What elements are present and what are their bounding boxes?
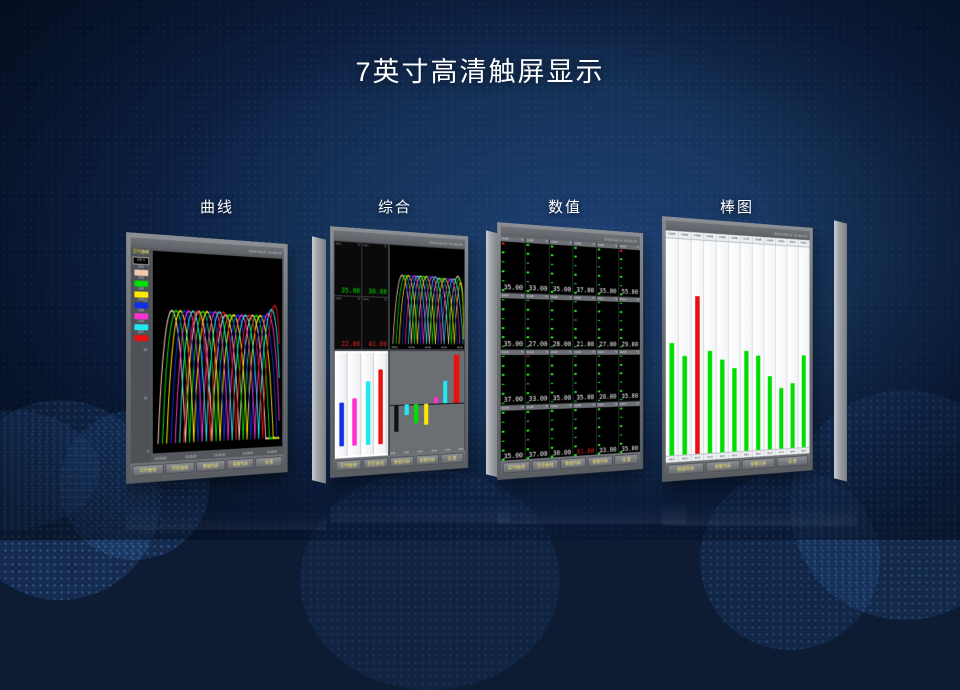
x-tick: 10:44:00 bbox=[214, 453, 225, 457]
channel-tag: CH5 bbox=[138, 308, 144, 313]
channel-tag: CH09 bbox=[551, 295, 558, 299]
channel-tag: CH10 bbox=[575, 295, 582, 299]
numeric-value: 31.00 bbox=[576, 447, 594, 456]
numeric-value: 35.00 bbox=[553, 394, 571, 402]
channel-tag: CH2 bbox=[363, 243, 368, 247]
channel-tag: CH17 bbox=[598, 350, 604, 354]
alarm-leds bbox=[527, 411, 530, 459]
device-side-panel bbox=[834, 220, 847, 481]
device-screen[interactable]: 2014-08-21 10:46:43 CH01 CH02 CH03 CH04 … bbox=[666, 220, 810, 477]
combined-trend-chart[interactable]: 39:00 41:00 44:00 46:00 48:00 bbox=[389, 244, 465, 350]
channel-tag: CH07 bbox=[741, 236, 753, 243]
bar-column[interactable] bbox=[679, 239, 692, 455]
gauge-bar[interactable] bbox=[349, 353, 361, 456]
bar-column[interactable] bbox=[717, 242, 729, 453]
button-realtime-curve[interactable]: 实时曲线 bbox=[133, 464, 164, 477]
gauge-bar[interactable] bbox=[375, 353, 387, 454]
table-row: CH07℃ 35.00 CH08℃ 27.00 CH09℃ 28.00 bbox=[501, 293, 640, 349]
channel-header-row: CH01 CH02 CH03 CH04 CH05 CH06 CH07 CH08 … bbox=[666, 230, 810, 247]
channel-tag: CH05 bbox=[598, 243, 604, 247]
unit-label: ℃ bbox=[384, 297, 387, 301]
y-tick: 75 bbox=[144, 299, 147, 303]
bar-column[interactable] bbox=[741, 243, 753, 451]
y-tick: 0 bbox=[147, 450, 149, 454]
button-realtime-curve[interactable]: 实时曲线 bbox=[336, 459, 362, 472]
table-row: CH19℃ 35.00 CH20℃ 37.00 CH21℃ 30.00 bbox=[501, 402, 640, 462]
x-tick: 19:00 bbox=[458, 448, 463, 451]
x-tick: 39:00 bbox=[391, 345, 397, 349]
channel-tag: CH2 bbox=[138, 275, 144, 280]
device-bezel: 2014-08-21 10:46:43 CH1 ℃ 35.00 CH2 ℃ bbox=[330, 226, 468, 478]
channel-tag: CH21 bbox=[551, 404, 558, 408]
digital-cell[interactable]: CH3 ℃ 22.00 bbox=[335, 296, 362, 349]
alarm-leds bbox=[527, 244, 530, 292]
numeric-cell[interactable]: CH08℃ 27.00 bbox=[526, 294, 549, 349]
function-button-bar[interactable]: 数据列表 报警列表 报警记录 设 置 bbox=[666, 453, 810, 478]
channel-value: 30.0 bbox=[753, 451, 765, 458]
numeric-value: 28.00 bbox=[553, 340, 571, 348]
unit-label: ℃ bbox=[615, 244, 618, 249]
numeric-value: 33.00 bbox=[529, 284, 548, 293]
numeric-cell[interactable]: CH22℃ 31.00 bbox=[574, 403, 596, 457]
unit-label: ℃ bbox=[636, 350, 639, 355]
channel-tag: CH1 bbox=[138, 264, 144, 269]
caption-bargraph: 棒图 bbox=[720, 196, 754, 217]
channel-tag: CH20 bbox=[527, 405, 534, 409]
digital-value: 22.00 bbox=[335, 340, 361, 348]
button-settings[interactable]: 设 置 bbox=[776, 455, 808, 467]
button-data-list[interactable]: 数据列表 bbox=[196, 460, 225, 472]
unit-label: ℃ bbox=[521, 405, 524, 410]
status-bar: 2014-08-21 10:46:43 bbox=[666, 220, 810, 240]
numeric-value: 33.00 bbox=[529, 395, 548, 403]
gauge-bar[interactable] bbox=[362, 353, 374, 455]
bar-column[interactable] bbox=[776, 245, 787, 448]
button-settings[interactable]: 设 置 bbox=[441, 452, 464, 464]
bar-chart-panel[interactable]: 9:00 11:00 13:00 15:00 17:00 19:00 bbox=[389, 350, 465, 456]
device-side-panel bbox=[312, 236, 326, 483]
x-tick: 44:00 bbox=[425, 345, 431, 349]
numeric-value: 35.00 bbox=[504, 340, 523, 348]
channel-tag: CH7 bbox=[138, 330, 144, 335]
numeric-cell[interactable]: CH07℃ 35.00 bbox=[501, 293, 525, 349]
bar-column[interactable] bbox=[799, 247, 810, 448]
channel-tag: CH11 bbox=[598, 296, 604, 300]
channel-tag: CH04 bbox=[575, 241, 582, 245]
channel-value: 31.0 bbox=[764, 450, 776, 457]
numeric-cell[interactable]: CH06℃ 55.00 bbox=[619, 244, 640, 296]
device-reflection bbox=[662, 482, 857, 526]
button-history-curve[interactable]: 历史曲线 bbox=[532, 459, 559, 472]
numeric-cell[interactable]: CH12℃ 29.00 bbox=[619, 297, 640, 349]
channel-tag: CH23 bbox=[598, 403, 604, 407]
unit-label: ℃ bbox=[545, 239, 548, 244]
numeric-cell[interactable]: CH24℃ 35.00 bbox=[619, 402, 640, 454]
unit-label: ℃ bbox=[636, 245, 639, 250]
function-button-bar[interactable]: 实时曲线 历史曲线 数据列表 报警列表 设 置 bbox=[131, 454, 284, 478]
channel-tag: CH24 bbox=[620, 402, 626, 406]
channel-tag: CH13 bbox=[502, 350, 509, 354]
numeric-cell[interactable]: CH01℃ 35.00 bbox=[501, 236, 525, 292]
timestamp: 2015-02-21 10:34:21 bbox=[604, 236, 637, 243]
alarm-leds bbox=[598, 409, 600, 455]
unit-label: ℃ bbox=[592, 403, 595, 408]
unit-label: ℃ bbox=[357, 243, 360, 247]
alarm-leds bbox=[620, 355, 622, 400]
channel-tag: CH05 bbox=[717, 234, 729, 242]
channel-color-chip-6[interactable] bbox=[134, 324, 148, 330]
device-screen[interactable]: 2015-02-21 10:34:21 CH01℃ 35.00 CH02℃ 33… bbox=[501, 226, 640, 475]
button-realtime-curve[interactable]: 实时曲线 bbox=[503, 461, 531, 474]
bar bbox=[434, 397, 438, 404]
timestamp: 2014-08-21 10:46:43 bbox=[774, 231, 807, 238]
channel-tag: CH08 bbox=[753, 236, 765, 243]
trend-chart[interactable]: 100 75 50 25 0 bbox=[153, 251, 282, 454]
channel-sidebar[interactable]: 实时曲线 CH 1 CH1 CH2 CH3 CH4 CH5 CH6 CH7 bbox=[131, 247, 151, 464]
digital-value: 41.00 bbox=[362, 340, 387, 348]
device-bezel: 2014-08-21 10:46:43 CH01 CH02 CH03 CH04 … bbox=[662, 216, 813, 482]
numeric-cell[interactable]: CH11℃ 27.00 bbox=[597, 296, 619, 349]
alarm-leds bbox=[502, 242, 505, 291]
device-reflection bbox=[126, 484, 326, 530]
numeric-value: 35.00 bbox=[504, 451, 523, 460]
alarm-leds bbox=[575, 355, 578, 402]
x-tick: 48:00 bbox=[457, 346, 463, 350]
device-bargraph[interactable]: 2014-08-21 10:46:43 CH01 CH02 CH03 CH04 … bbox=[662, 216, 857, 482]
bar bbox=[424, 404, 428, 425]
channel-tag: CH12 bbox=[799, 240, 810, 247]
device-reflection bbox=[497, 480, 687, 524]
channel-tag: CH15 bbox=[551, 350, 558, 354]
bar bbox=[394, 405, 398, 432]
panel-title: 实时曲线 bbox=[133, 248, 150, 255]
unit-label: ℃ bbox=[357, 296, 360, 300]
channel-tag: CH1 bbox=[336, 241, 342, 245]
device-combined[interactable]: 2014-08-21 10:46:43 CH1 ℃ 35.00 CH2 ℃ bbox=[330, 226, 510, 478]
x-tick: 13:00 bbox=[417, 450, 422, 453]
bar bbox=[453, 355, 459, 403]
channel-color-chip-5[interactable] bbox=[134, 313, 148, 319]
numeric-value: 21.00 bbox=[576, 340, 594, 348]
numeric-cell[interactable]: CH04℃ 37.00 bbox=[574, 241, 596, 295]
numeric-value: 27.00 bbox=[529, 340, 548, 348]
numeric-cell[interactable]: CH09℃ 28.00 bbox=[550, 295, 573, 349]
alarm-leds bbox=[527, 300, 530, 348]
numeric-cell[interactable]: CH18℃ 35.00 bbox=[619, 350, 640, 402]
numeric-cell[interactable]: CH14℃ 33.00 bbox=[526, 350, 549, 405]
bar bbox=[404, 405, 408, 415]
button-data-list[interactable]: 数据列表 bbox=[668, 462, 704, 475]
channel-tag: CH02 bbox=[527, 238, 534, 242]
x-tick: 46:00 bbox=[441, 345, 447, 349]
unit-label: ℃ bbox=[569, 404, 572, 409]
digital-values-panel[interactable]: CH1 ℃ 35.00 CH2 ℃ 30.00 CH3 ℃ 22.00 bbox=[334, 240, 389, 350]
numeric-cell[interactable]: CH20℃ 37.00 bbox=[526, 405, 549, 461]
device-screen[interactable]: 2014-08-21 10:46:43 CH1 ℃ 35.00 CH2 ℃ bbox=[334, 230, 465, 473]
channel-tag: CH22 bbox=[575, 404, 582, 408]
x-tick: 41:00 bbox=[408, 345, 414, 349]
numeric-cell[interactable]: CH13℃ 37.00 bbox=[501, 350, 525, 406]
channel-tag: CH01 bbox=[502, 236, 509, 240]
numeric-cell[interactable]: CH10℃ 21.00 bbox=[574, 295, 596, 348]
channel-tag: CH07 bbox=[502, 293, 509, 297]
channel-value: 34.0 bbox=[717, 453, 729, 461]
numeric-value: 29.00 bbox=[621, 340, 638, 347]
digital-cell[interactable]: CH4 ℃ 41.00 bbox=[362, 297, 388, 350]
status-bar: 2014-08-21 10:46:43 bbox=[334, 230, 465, 249]
channel-value: 31.2 bbox=[741, 451, 753, 458]
channel-tag: CH4 bbox=[138, 297, 144, 302]
numeric-cell[interactable]: CH02℃ 33.00 bbox=[526, 238, 549, 294]
channel-tag: CH12 bbox=[620, 297, 626, 301]
unit-label: ℃ bbox=[636, 402, 639, 407]
channel-tag: CH18 bbox=[620, 350, 626, 354]
device-curve[interactable]: 2014-08-21 10:46:43 实时曲线 CH 1 CH1 CH2 CH… bbox=[126, 232, 326, 484]
alarm-leds bbox=[502, 355, 505, 404]
channel-tag: CH09 bbox=[764, 237, 776, 244]
numeric-value: 27.00 bbox=[599, 340, 616, 348]
digital-cell[interactable]: CH1 ℃ 35.00 bbox=[335, 241, 362, 295]
button-alarm-list[interactable]: 报警列表 bbox=[705, 460, 740, 473]
channel-tag: CH02 bbox=[679, 231, 692, 239]
device-bezel: 2014-08-21 10:46:43 实时曲线 CH 1 CH1 CH2 CH… bbox=[126, 232, 288, 484]
numeric-cell[interactable]: CH15℃ 35.00 bbox=[550, 350, 573, 404]
numeric-cell[interactable]: CH19℃ 35.00 bbox=[501, 405, 525, 461]
status-bar: 2014-08-21 10:46:43 bbox=[131, 237, 284, 257]
x-tick: 10:45:00 bbox=[242, 451, 253, 455]
numeric-value: 26.00 bbox=[599, 393, 616, 401]
unit-label: ℃ bbox=[636, 298, 639, 303]
numeric-value: 33.00 bbox=[599, 446, 616, 455]
function-button-bar[interactable]: 实时曲线 历史曲线 数据列表 报警列表 设 置 bbox=[334, 451, 465, 474]
numeric-value: 35.00 bbox=[621, 445, 638, 453]
unit-label: ℃ bbox=[384, 245, 387, 249]
channel-tag: CH14 bbox=[527, 350, 534, 354]
channel-tag: CH03 bbox=[551, 240, 558, 244]
alarm-leds bbox=[575, 247, 578, 294]
unit-label: ℃ bbox=[569, 241, 572, 246]
numeric-value: 35.00 bbox=[553, 285, 571, 293]
gauge-panel[interactable] bbox=[334, 350, 389, 460]
channel-value: 34.0 bbox=[692, 454, 705, 462]
x-tick: 10:46:00 bbox=[267, 450, 277, 454]
caption-combined: 综合 bbox=[378, 196, 412, 217]
unit-label: ℃ bbox=[592, 296, 595, 301]
unit-label: ℃ bbox=[545, 405, 548, 410]
y-tick: 25 bbox=[144, 397, 147, 401]
bar-column[interactable] bbox=[787, 246, 798, 448]
channel-tag: CH10 bbox=[776, 238, 787, 245]
channel-tag: CH06 bbox=[620, 244, 626, 248]
trend-curve-svg bbox=[153, 251, 282, 454]
channel-value: 28.0 bbox=[787, 448, 798, 455]
y-tick: 50 bbox=[144, 348, 147, 352]
numeric-cell[interactable]: CH05℃ 35.00 bbox=[597, 243, 619, 296]
unit-label: ℃ bbox=[569, 295, 572, 300]
button-history-curve[interactable]: 历史曲线 bbox=[165, 462, 195, 475]
unit-label: ℃ bbox=[615, 297, 618, 302]
channel-tag: CH3 bbox=[138, 286, 144, 291]
channel-color-chip-3[interactable] bbox=[134, 291, 148, 297]
channel-value: 30.0 bbox=[666, 456, 679, 464]
channel-tag: CH06 bbox=[729, 235, 741, 243]
alarm-leds bbox=[620, 408, 622, 453]
channel-value: 30.0 bbox=[679, 455, 692, 463]
alarm-leds bbox=[598, 248, 600, 294]
numeric-value: 35.00 bbox=[599, 287, 616, 295]
alarm-leds bbox=[551, 410, 554, 457]
page-title: 7英寸高清触屏显示 bbox=[0, 50, 960, 89]
button-settings[interactable]: 设 置 bbox=[614, 454, 638, 466]
alarm-leds bbox=[502, 412, 505, 461]
numeric-value: 35.00 bbox=[576, 394, 594, 402]
x-tick: 10:43:00 bbox=[185, 455, 196, 460]
channel-color-chip-2[interactable] bbox=[134, 280, 148, 287]
alarm-leds bbox=[620, 303, 622, 348]
numeric-value: 37.00 bbox=[529, 450, 548, 459]
digital-value: 35.00 bbox=[335, 286, 361, 295]
unit-label: ℃ bbox=[592, 242, 595, 247]
alarm-leds bbox=[598, 302, 600, 348]
gauge-bar[interactable] bbox=[336, 353, 348, 457]
caption-numeric: 数值 bbox=[548, 196, 582, 217]
combined-layout: CH1 ℃ 35.00 CH2 ℃ 30.00 CH3 ℃ 22.00 bbox=[334, 240, 465, 460]
numeric-cell[interactable]: CH21℃ 30.00 bbox=[550, 404, 573, 459]
device-screen[interactable]: 2014-08-21 10:46:43 实时曲线 CH 1 CH1 CH2 CH… bbox=[131, 237, 284, 478]
channel-tag: CH11 bbox=[787, 239, 798, 246]
unit-label: ℃ bbox=[615, 402, 618, 407]
channel-tag: CH3 bbox=[336, 296, 342, 300]
channel-selector[interactable]: CH 1 bbox=[133, 256, 150, 264]
unit-label: ℃ bbox=[592, 350, 595, 355]
numeric-cell[interactable]: CH17℃ 26.00 bbox=[597, 350, 619, 402]
channel-value: 29.0 bbox=[729, 452, 741, 459]
unit-label: ℃ bbox=[615, 350, 618, 355]
button-alarm-list[interactable]: 报警列表 bbox=[588, 455, 613, 467]
device-reflection bbox=[330, 478, 510, 522]
channel-tag: CH03 bbox=[692, 232, 705, 240]
numeric-value: 35.00 bbox=[504, 283, 523, 292]
channel-tag: CH4 bbox=[363, 297, 368, 301]
button-history-curve[interactable]: 历史曲线 bbox=[363, 457, 388, 469]
unit-label: ℃ bbox=[521, 294, 524, 299]
unit-label: ℃ bbox=[545, 294, 548, 299]
timestamp: 2014-08-21 10:46:43 bbox=[429, 239, 462, 246]
bargraph-panel: CH01 CH02 CH03 CH04 CH05 CH06 CH07 CH08 … bbox=[666, 230, 810, 463]
alarm-leds bbox=[620, 250, 622, 295]
bar-column[interactable] bbox=[753, 244, 765, 450]
unit-label: ℃ bbox=[545, 350, 548, 355]
bar bbox=[443, 381, 447, 403]
bar-column[interactable] bbox=[692, 240, 705, 454]
alarm-leds bbox=[551, 300, 554, 347]
bar bbox=[414, 404, 418, 423]
unit-label: ℃ bbox=[521, 350, 524, 355]
channel-color-chip-7[interactable] bbox=[134, 335, 148, 341]
x-tick: 10:42:00 bbox=[155, 457, 167, 462]
x-tick: 11:00 bbox=[404, 451, 409, 454]
numeric-cell[interactable]: CH03℃ 35.00 bbox=[550, 240, 573, 295]
device-numeric[interactable]: 2015-02-21 10:34:21 CH01℃ 35.00 CH02℃ 33… bbox=[497, 222, 687, 480]
channel-tag: CH19 bbox=[502, 406, 509, 410]
channel-value: 31.0 bbox=[704, 454, 716, 462]
bar-column[interactable] bbox=[764, 245, 776, 450]
numeric-value: 35.00 bbox=[621, 392, 638, 400]
alarm-leds bbox=[502, 299, 505, 348]
numeric-cell[interactable]: CH23℃ 33.00 bbox=[597, 402, 619, 455]
x-tick: 17:00 bbox=[445, 449, 450, 452]
channel-tag: CH16 bbox=[575, 350, 582, 354]
numeric-value: 30.00 bbox=[553, 449, 571, 458]
trend-curve-svg bbox=[390, 245, 465, 349]
numeric-value: 37.00 bbox=[504, 396, 523, 404]
alarm-leds bbox=[598, 355, 600, 401]
channel-value: 27.0 bbox=[776, 449, 787, 456]
numeric-value: 37.00 bbox=[576, 286, 594, 294]
x-tick: 15:00 bbox=[431, 449, 436, 452]
y-tick: 100 bbox=[143, 250, 148, 254]
numeric-value: 55.00 bbox=[621, 288, 638, 296]
status-bar: 2015-02-21 10:34:21 bbox=[501, 226, 640, 245]
function-button-bar[interactable]: 实时曲线 历史曲线 数据列表 报警列表 设 置 bbox=[501, 452, 640, 476]
bar-column[interactable] bbox=[729, 242, 741, 451]
alarm-leds bbox=[551, 245, 554, 292]
channel-color-chip-1[interactable] bbox=[134, 269, 148, 276]
x-tick: 9:00 bbox=[391, 452, 395, 455]
digital-cell[interactable]: CH2 ℃ 30.00 bbox=[362, 243, 388, 296]
alarm-leds bbox=[575, 301, 578, 348]
timestamp: 2014-08-21 10:46:43 bbox=[249, 248, 281, 255]
button-data-list[interactable]: 数据列表 bbox=[390, 456, 414, 468]
table-row: CH01℃ 35.00 CH02℃ 33.00 CH03℃ 35.00 bbox=[501, 236, 640, 296]
channel-tag: CH6 bbox=[138, 319, 144, 324]
channel-value-row: 30.0 30.0 34.0 31.0 34.0 29.0 31.2 30.0 … bbox=[666, 447, 810, 464]
channel-tag: CH08 bbox=[527, 294, 534, 298]
numeric-grid: CH01℃ 35.00 CH02℃ 33.00 CH03℃ 35.00 bbox=[501, 236, 640, 462]
unit-label: ℃ bbox=[521, 238, 524, 243]
button-data-list[interactable]: 数据列表 bbox=[560, 457, 586, 469]
channel-value: 30.0 bbox=[799, 448, 810, 455]
button-alarm-record[interactable]: 报警记录 bbox=[742, 457, 775, 470]
channel-tag: CH01 bbox=[666, 230, 679, 238]
numeric-cell[interactable]: CH16℃ 35.00 bbox=[574, 350, 596, 403]
bar-column[interactable] bbox=[666, 238, 679, 456]
button-settings[interactable]: 设 置 bbox=[256, 456, 282, 468]
alarm-leds bbox=[551, 355, 554, 402]
channel-color-chip-4[interactable] bbox=[134, 302, 148, 308]
button-alarm-list[interactable]: 报警列表 bbox=[227, 458, 254, 470]
alarm-leds bbox=[575, 409, 578, 456]
device-bezel: 2015-02-21 10:34:21 CH01℃ 35.00 CH02℃ 33… bbox=[497, 222, 643, 480]
button-alarm-list[interactable]: 报警列表 bbox=[416, 454, 439, 466]
alarm-leds bbox=[527, 355, 530, 403]
digital-value: 30.00 bbox=[362, 287, 387, 296]
unit-label: ℃ bbox=[569, 350, 572, 355]
caption-curve: 曲线 bbox=[200, 196, 234, 217]
channel-tag: CH04 bbox=[704, 233, 716, 241]
bargraph-bars bbox=[666, 238, 810, 456]
table-row: CH13℃ 37.00 CH14℃ 33.00 CH15℃ 35.00 bbox=[501, 350, 640, 406]
bar-column[interactable] bbox=[704, 241, 716, 454]
